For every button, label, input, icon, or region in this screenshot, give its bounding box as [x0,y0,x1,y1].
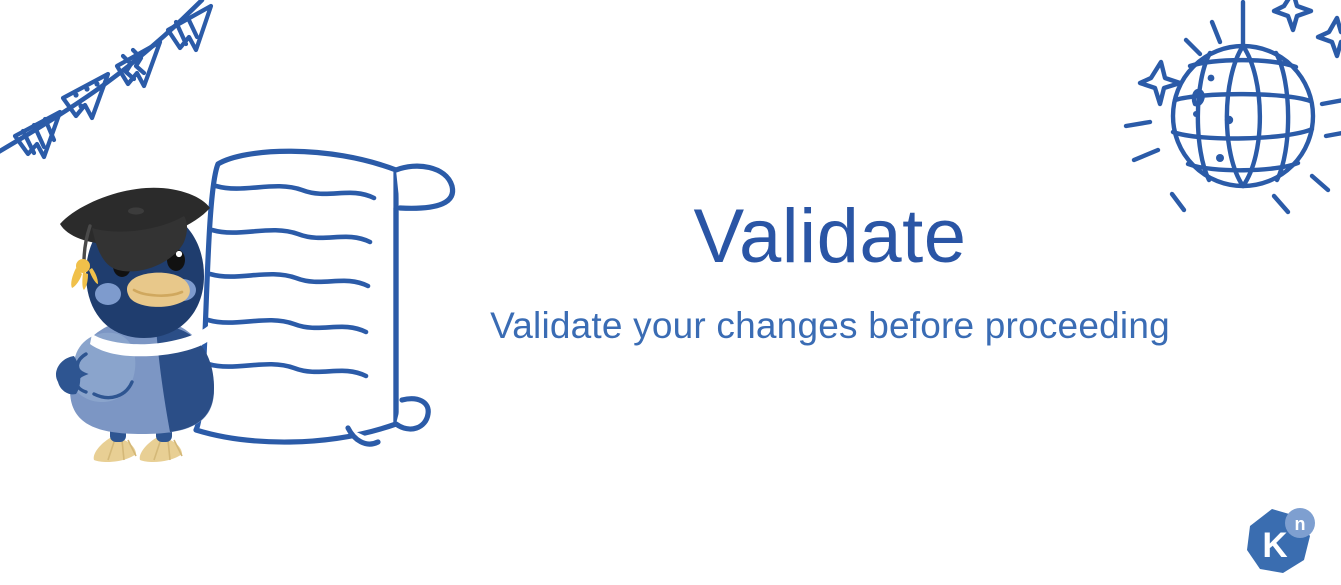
slide-text-block: Validate Validate your changes before pr… [330,196,1330,348]
logo-badge-letter: n [1295,514,1306,534]
bunting-icon [0,0,232,194]
page-title: Validate [330,196,1330,278]
logo-primary-letter: K [1262,526,1287,565]
kn-brand-logo: K n [1242,505,1320,579]
bird-mascot-icon [52,186,232,468]
page-subtitle: Validate your changes before proceeding [330,304,1330,348]
slide-canvas: Validate Validate your changes before pr… [0,0,1341,585]
